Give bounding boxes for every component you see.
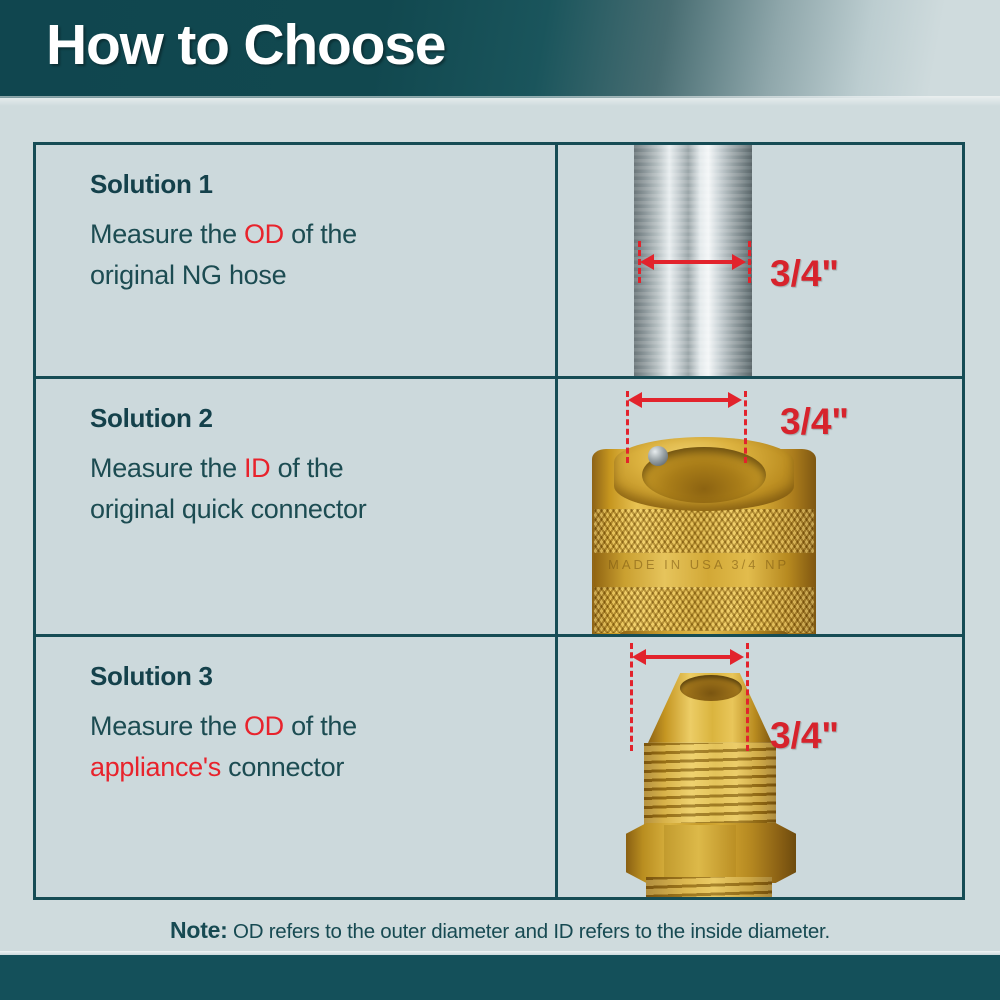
dimension-label: 3/4" [770, 715, 839, 757]
desc-text-before: Measure the [90, 453, 244, 483]
solution-description: Measure the ID of the original quick con… [90, 448, 535, 530]
desc-highlight-od: OD [244, 219, 284, 249]
solution-3-text-cell: Solution 3 Measure the OD of the applian… [36, 637, 558, 897]
note-body: OD refers to the outer diameter and ID r… [228, 920, 830, 943]
header-highlight-strip [0, 96, 1000, 106]
connector-stamp-text: MADE IN USA 3/4 NPT [608, 557, 788, 585]
solution-description-line2: appliance's connector [90, 747, 535, 788]
dim-arrow [653, 260, 733, 264]
knurled-band-lower [594, 587, 814, 633]
solution-description: Measure the OD of the appliance's connec… [90, 706, 535, 788]
solution-title: Solution 2 [90, 403, 535, 434]
brass-flare-fitting-image [612, 673, 822, 897]
solution-2-image-cell: MADE IN USA 3/4 NPT 3/4" [558, 379, 962, 634]
hex-nut-front-face [664, 825, 736, 881]
desc-text-middle: of the [270, 453, 343, 483]
note-text: Note: OD refers to the outer diameter an… [170, 917, 830, 944]
solution-description: Measure the OD of the original NG hose [90, 214, 535, 296]
table-row: Solution 2 Measure the ID of the origina… [36, 379, 962, 637]
flare-bore-opening [680, 675, 742, 701]
dim-arrow [641, 398, 729, 402]
dimension-label: 3/4" [780, 401, 849, 443]
desc-text-middle: of the [284, 711, 357, 741]
table-row: Solution 1 Measure the OD of the origina… [36, 145, 962, 379]
dim-tick-right [744, 391, 747, 463]
dimension-label: 3/4" [770, 253, 839, 295]
solution-1-text-cell: Solution 1 Measure the OD of the origina… [36, 145, 558, 376]
desc-text-middle: of the [284, 219, 357, 249]
lower-threaded-tail [646, 877, 772, 897]
solution-3-image-cell: 3/4" [558, 637, 962, 897]
solution-2-text-cell: Solution 2 Measure the ID of the origina… [36, 379, 558, 634]
dim-tick-right [746, 643, 749, 751]
desc-line2-before: original quick connector [90, 494, 366, 524]
desc-highlight-id: ID [244, 453, 270, 483]
note-label: Note: [170, 917, 228, 943]
footer-band [0, 955, 1000, 1000]
desc-text-before: Measure the [90, 219, 244, 249]
dim-arrow [645, 655, 731, 659]
connector-base [618, 631, 790, 634]
solution-description-line1: Measure the ID of the [90, 448, 535, 489]
solution-description-line2: original quick connector [90, 489, 535, 530]
ball-detent [648, 446, 668, 466]
comparison-table: Solution 1 Measure the OD of the origina… [33, 142, 965, 900]
desc-line2-before: original NG hose [90, 260, 286, 290]
desc-line2-after: connector [221, 752, 344, 782]
note-row: Note: OD refers to the outer diameter an… [0, 905, 1000, 955]
desc-line2-highlight-appliance: appliance's [90, 752, 221, 782]
knurled-band-upper [594, 509, 814, 555]
solution-title: Solution 3 [90, 661, 535, 692]
table-row: Solution 3 Measure the OD of the applian… [36, 637, 962, 897]
desc-highlight-od: OD [244, 711, 284, 741]
dim-tick-right [748, 241, 751, 283]
solution-description-line2: original NG hose [90, 255, 535, 296]
solution-title: Solution 1 [90, 169, 535, 200]
desc-text-before: Measure the [90, 711, 244, 741]
page-title: How to Choose [46, 12, 445, 78]
solution-1-image-cell: 3/4" [558, 145, 962, 376]
solution-description-line1: Measure the OD of the [90, 706, 535, 747]
threaded-section [644, 743, 776, 829]
solution-description-line1: Measure the OD of the [90, 214, 535, 255]
